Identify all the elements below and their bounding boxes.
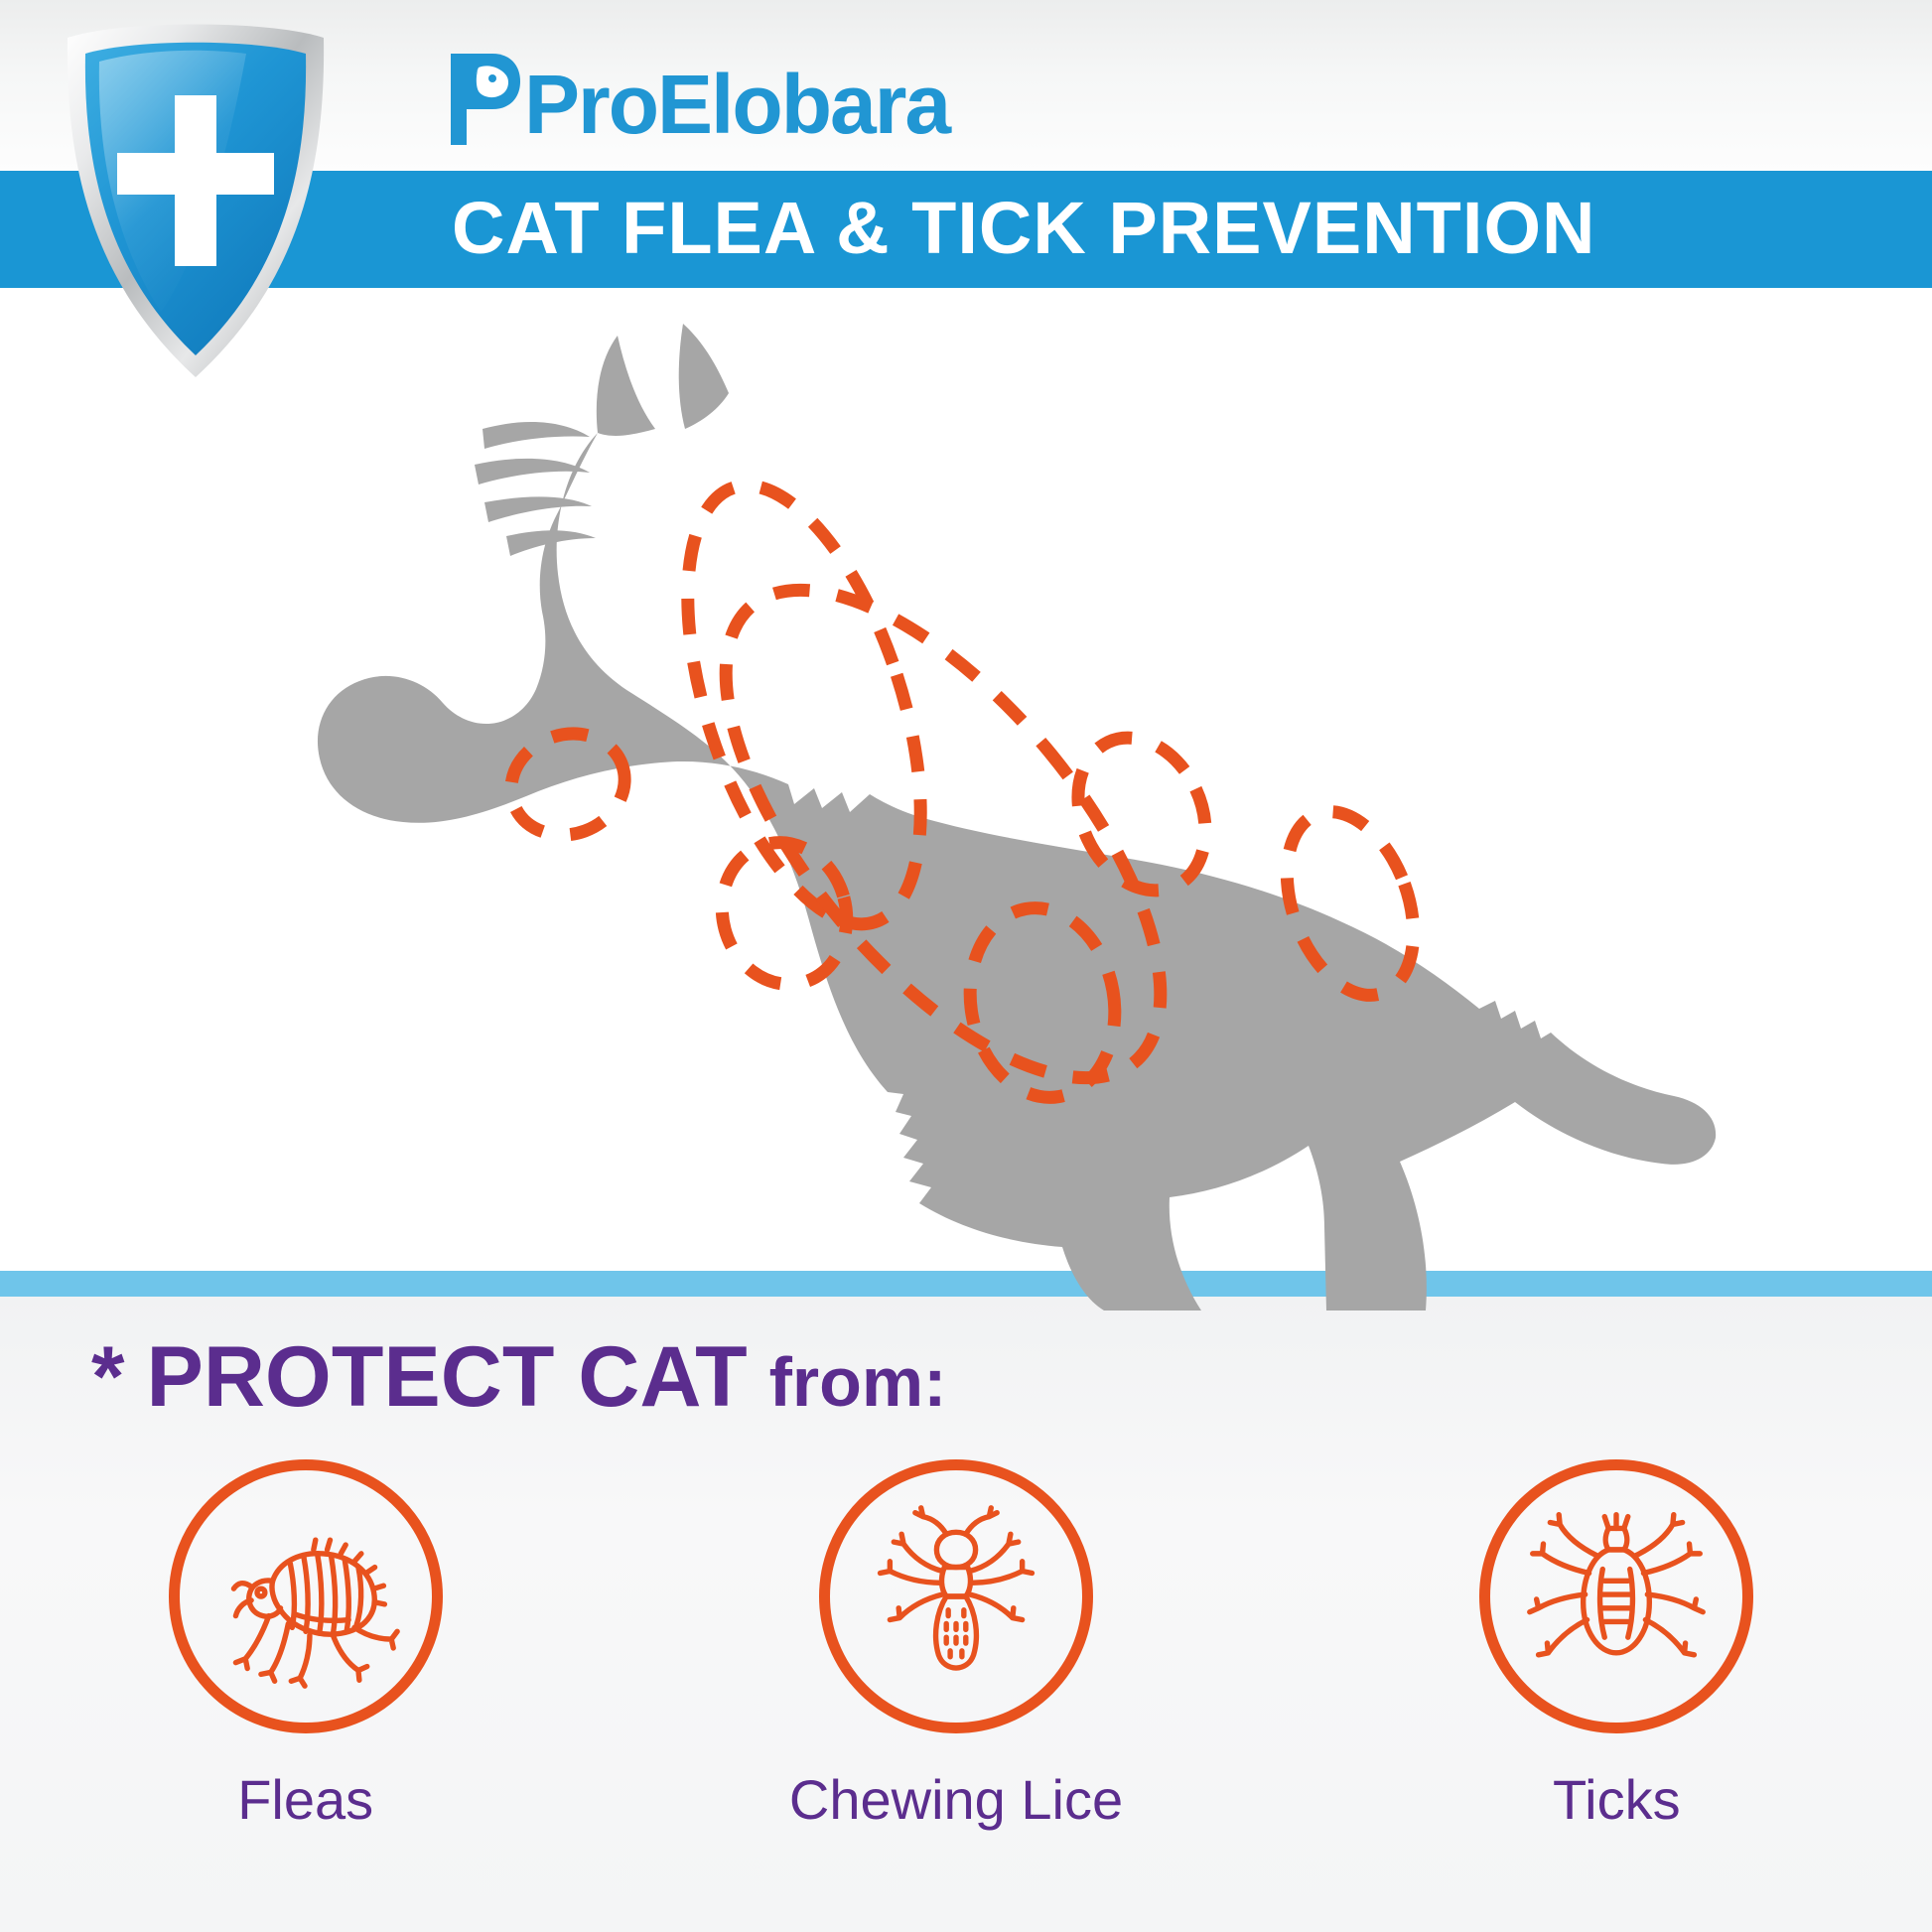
chewing-louse-icon: [859, 1499, 1053, 1694]
tick-icon: [1519, 1499, 1714, 1694]
pest-label-ticks: Ticks: [1553, 1767, 1681, 1832]
brand-logo: ProElobara: [449, 48, 949, 145]
pest-item-chewing-lice: Chewing Lice: [640, 1459, 1271, 1896]
pest-item-fleas: Fleas: [0, 1459, 621, 1896]
pest-label-chewing-lice: Chewing Lice: [789, 1767, 1123, 1832]
protect-heading-soft: from:: [769, 1342, 947, 1422]
protect-heading-strong: PROTECT CAT: [146, 1328, 747, 1427]
flea-icon-circle: [169, 1459, 443, 1733]
product-poster: CAT FLEA & TICK PREVENTION: [0, 0, 1932, 1932]
shield-badge: [52, 14, 340, 383]
protect-heading: * PROTECT CAT from:: [91, 1328, 947, 1427]
brand-name: ProElobara: [524, 64, 949, 145]
pest-label-fleas: Fleas: [237, 1767, 373, 1832]
tick-icon-circle: [1479, 1459, 1753, 1733]
dog-head-icon: [449, 48, 522, 145]
cat-illustration: [248, 318, 1718, 1311]
pest-item-ticks: Ticks: [1302, 1459, 1932, 1896]
flea-icon: [208, 1499, 403, 1694]
chewing-louse-icon-circle: [819, 1459, 1093, 1733]
asterisk-marker: *: [91, 1334, 124, 1420]
pest-list: Fleas: [0, 1459, 1932, 1896]
cat-whiskers: [475, 422, 596, 556]
banner-title: CAT FLEA & TICK PREVENTION: [452, 186, 1595, 270]
